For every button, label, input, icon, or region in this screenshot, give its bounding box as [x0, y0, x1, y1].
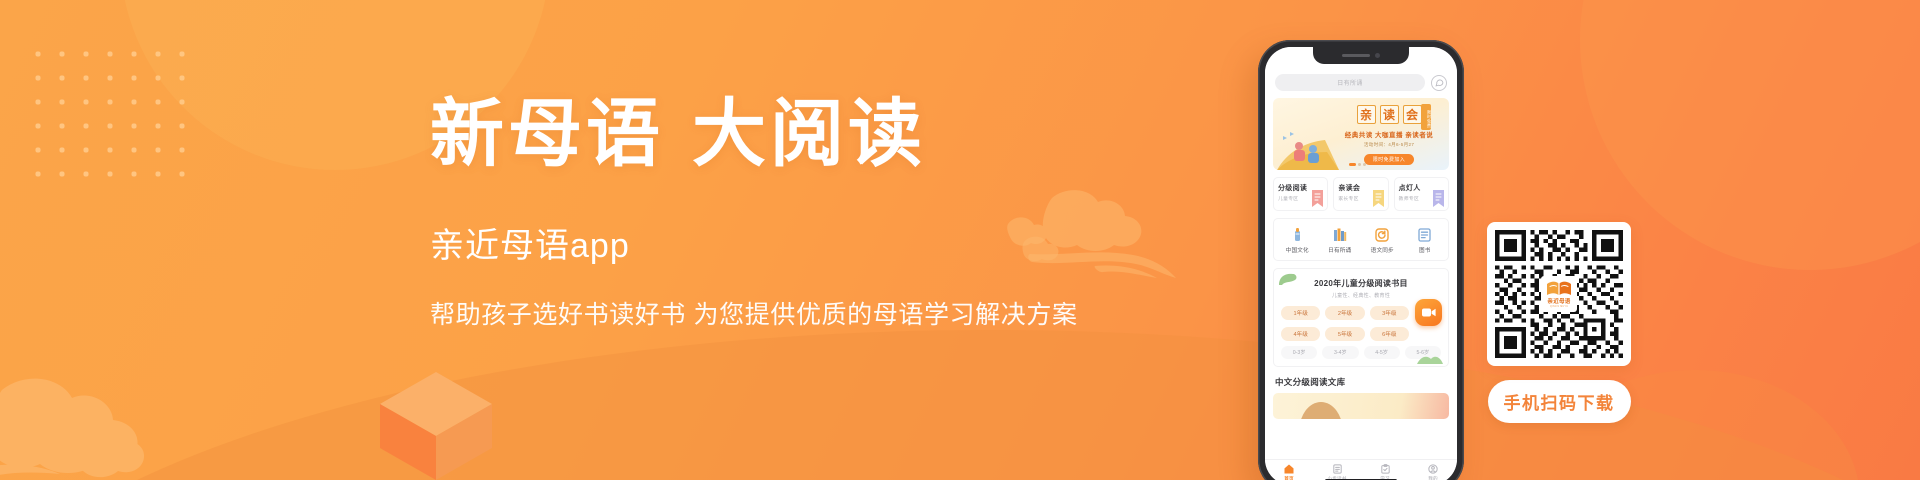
qr-download-panel: 亲近母语 QINJIN MUYU 手机扫码下载 [1487, 222, 1631, 423]
hero-content: 亲 读 会 限时免费 经典共读 大咖直播 亲读者说 活动时间：4月6-5月27 … [1333, 105, 1445, 166]
home-icon [1265, 463, 1313, 474]
zone-card-row: 分级阅读 儿童专区 亲读会 家长专区 [1273, 177, 1449, 211]
circle-blob-top-right [1580, 0, 1920, 270]
app-search-row: 日有所诵 [1273, 71, 1449, 98]
kids-illustration [1277, 130, 1339, 170]
tab-profile[interactable]: 我的 [1409, 463, 1457, 480]
open-book-logo-icon [1546, 281, 1572, 296]
banner-headline: 新母语大阅读 [430, 96, 1230, 174]
quick-links-row: 中国文化 日有所诵 [1273, 218, 1449, 261]
hero-title-char-1: 亲 [1357, 105, 1376, 124]
hero-date-text: 活动时间：4月6-5月27 [1333, 142, 1445, 148]
hero-title-char-3: 会 [1403, 105, 1422, 124]
age-chip[interactable]: 4-5岁 [1364, 346, 1400, 359]
tab-home[interactable]: 首页 [1265, 463, 1313, 480]
hero-promo-card[interactable]: 亲 读 会 限时免费 经典共读 大咖直播 亲读者说 活动时间：4月6-5月27 … [1273, 98, 1449, 170]
leaf-decor-icon [1278, 273, 1298, 286]
booklist-subtitle: 儿童性、经典性、教育性 [1281, 292, 1441, 299]
headline-part-2: 大阅读 [692, 94, 926, 176]
quick-link-recitation[interactable]: 日有所诵 [1320, 226, 1360, 254]
promo-banner: 新母语大阅读 亲近母语app 帮助孩子选好书读好书 为您提供优质的母语学习解决方… [0, 0, 1920, 480]
tab-label: 我的 [1409, 476, 1457, 480]
isometric-cube-shape [378, 370, 494, 480]
hero-cta-button[interactable]: 限时免费加入 [1364, 154, 1414, 165]
booklist-title: 2020年儿童分级阅读书目 [1281, 278, 1441, 289]
grade-chip[interactable]: 6年级 [1370, 327, 1409, 341]
banner-copy-block: 新母语大阅读 亲近母语app 帮助孩子选好书读好书 为您提供优质的母语学习解决方… [430, 96, 1230, 331]
tab-reading[interactable]: 小步读书 [1313, 463, 1361, 480]
quick-link-books[interactable]: 图书 [1405, 226, 1445, 254]
search-input[interactable]: 日有所诵 [1275, 74, 1425, 91]
qr-logo-name: 亲近母语 [1547, 297, 1570, 305]
bookmark-yellow-icon [1371, 189, 1386, 208]
booklist-card: 2020年儿童分级阅读书目 儿童性、经典性、教育性 1年级 2年级 3年级 4年… [1273, 268, 1449, 367]
headline-part-1: 新母语 [430, 94, 664, 176]
carousel-dots[interactable] [1349, 163, 1366, 166]
carousel-dot[interactable] [1358, 163, 1361, 166]
library-section-title: 中文分级阅读文库 [1273, 374, 1449, 393]
search-placeholder: 日有所诵 [1337, 78, 1363, 87]
phone-speaker [1342, 54, 1370, 57]
quick-link-label: 图书 [1405, 246, 1445, 254]
app-screen-content: 日有所诵 [1265, 47, 1457, 459]
books-icon [1320, 226, 1360, 243]
auspicious-cloud-icon-bottom-left [0, 372, 214, 480]
carousel-dot-active[interactable] [1349, 163, 1356, 166]
video-play-icon[interactable] [1415, 299, 1442, 326]
zone-card-teacher[interactable]: 点灯人 教师专区 [1394, 177, 1449, 211]
library-card-arc-decor [1299, 402, 1343, 419]
hero-subtitle: 经典共读 大咖直播 亲读者说 [1333, 129, 1445, 139]
hill-curve-shape [0, 330, 1920, 480]
study-icon [1361, 463, 1409, 474]
app-tab-bar: 首页 小步读书 [1265, 459, 1457, 480]
quick-link-sync[interactable]: 语文同步 [1362, 226, 1402, 254]
grade-chip[interactable]: 2年级 [1325, 306, 1364, 320]
phone-camera-icon [1375, 53, 1380, 58]
reading-icon [1313, 463, 1361, 474]
app-name-text: 亲近母语app [430, 218, 1230, 267]
phone-notch [1313, 47, 1409, 64]
culture-icon [1277, 226, 1317, 243]
message-icon[interactable] [1431, 75, 1447, 91]
bookmark-purple-icon [1431, 189, 1446, 208]
grade-chip[interactable]: 4年级 [1281, 327, 1320, 341]
hero-ribbon-badge: 限时免费 [1421, 104, 1431, 130]
qr-logo-subtext: QINJIN MUYU [1550, 305, 1568, 308]
grade-chip[interactable]: 1年级 [1281, 306, 1320, 320]
book-icon [1405, 226, 1445, 243]
quick-link-culture[interactable]: 中国文化 [1277, 226, 1317, 254]
grade-chip[interactable]: 3年级 [1370, 306, 1409, 320]
grade-row-2: 4年级 5年级 6年级 [1281, 327, 1441, 341]
profile-icon [1409, 463, 1457, 474]
download-button[interactable]: 手机扫码下载 [1488, 380, 1631, 423]
sync-icon [1362, 226, 1402, 243]
grade-chip[interactable]: 5年级 [1325, 327, 1364, 341]
quick-link-label: 中国文化 [1277, 246, 1317, 254]
quick-link-label: 日有所诵 [1320, 246, 1360, 254]
phone-mockup: 日有所诵 [1258, 40, 1464, 480]
banner-tagline: 帮助孩子选好书读好书 为您提供优质的母语学习解决方案 [430, 295, 1230, 331]
quick-link-label: 语文同步 [1362, 246, 1402, 254]
age-chip[interactable]: 3-4岁 [1322, 346, 1358, 359]
zone-card-graded-reading[interactable]: 分级阅读 儿童专区 [1273, 177, 1328, 211]
carousel-dot[interactable] [1363, 163, 1366, 166]
grass-decor-icon [1417, 355, 1443, 364]
tab-label: 首页 [1265, 476, 1313, 480]
age-chip[interactable]: 0-3岁 [1281, 346, 1317, 359]
phone-screen: 日有所诵 [1265, 47, 1457, 480]
qr-code-card[interactable]: 亲近母语 QINJIN MUYU [1487, 222, 1631, 366]
dot-grid-pattern [26, 42, 198, 192]
hero-title-char-2: 读 [1380, 105, 1399, 124]
zone-card-parent[interactable]: 亲读会 家长专区 [1333, 177, 1388, 211]
bookmark-red-icon [1310, 189, 1325, 208]
library-preview-card[interactable] [1273, 393, 1449, 419]
tab-study[interactable]: 学习 [1361, 463, 1409, 480]
qr-center-logo: 亲近母语 QINJIN MUYU [1541, 276, 1577, 312]
